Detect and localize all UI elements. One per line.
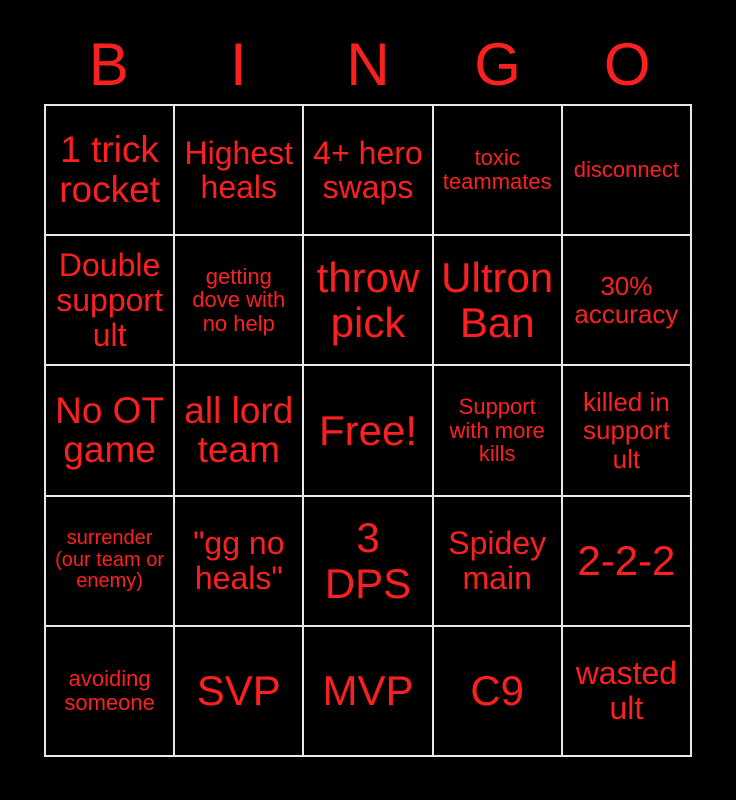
header-letter-o: O [562,28,692,102]
bingo-cell-label: Double support ult [50,248,169,352]
bingo-cell[interactable]: Spidey main [434,497,563,627]
bingo-cell[interactable]: "gg no heals" [175,497,304,627]
bingo-cell-label: MVP [308,668,427,713]
bingo-cell[interactable]: No OT game [46,366,175,496]
bingo-cell-label: Highest heals [179,136,298,205]
bingo-cell[interactable]: 30% accuracy [563,236,692,366]
bingo-cell-label: Free! [308,408,427,453]
bingo-cell[interactable]: 2-2-2 [563,497,692,627]
bingo-cell-label: Support with more kills [438,395,557,466]
bingo-cell[interactable]: disconnect [563,106,692,236]
bingo-cell[interactable]: getting dove with no help [175,236,304,366]
bingo-cell-label: 3 DPS [308,515,427,606]
header-letter-b: B [44,28,174,102]
bingo-cell-label: getting dove with no help [179,265,298,336]
bingo-cell-label: Spidey main [438,526,557,595]
bingo-cell-label: No OT game [50,391,169,471]
bingo-cell-label: 4+ hero swaps [308,136,427,205]
bingo-cell-label: Ultron Ban [438,255,557,346]
bingo-cell-label: 1 trick rocket [50,130,169,210]
bingo-cell[interactable]: MVP [304,627,433,757]
bingo-cell[interactable]: killed in support ult [563,366,692,496]
bingo-cell[interactable]: Double support ult [46,236,175,366]
bingo-cell[interactable]: toxic teammates [434,106,563,236]
bingo-cell[interactable]: C9 [434,627,563,757]
bingo-cell[interactable]: Ultron Ban [434,236,563,366]
header-letter-g: G [433,28,563,102]
bingo-cell-label: disconnect [567,158,686,182]
bingo-cell-label: surrender (our team or enemy) [50,528,169,593]
bingo-cell[interactable]: Highest heals [175,106,304,236]
bingo-cell[interactable]: avoiding someone [46,627,175,757]
bingo-cell-label: killed in support ult [567,388,686,472]
bingo-cell[interactable]: SVP [175,627,304,757]
header-letter-n: N [303,28,433,102]
bingo-card: B I N G O 1 trick rocketHighest heals4+ … [0,0,736,800]
bingo-cell-label: all lord team [179,391,298,471]
bingo-cell-label: throw pick [308,255,427,346]
bingo-cell-label: 30% accuracy [567,272,686,328]
bingo-cell[interactable]: surrender (our team or enemy) [46,497,175,627]
bingo-grid: 1 trick rocketHighest heals4+ hero swaps… [44,104,692,757]
bingo-cell[interactable]: 3 DPS [304,497,433,627]
bingo-cell[interactable]: throw pick [304,236,433,366]
header-letter-i: I [174,28,304,102]
bingo-cell-label: toxic teammates [438,146,557,194]
bingo-cell[interactable]: 4+ hero swaps [304,106,433,236]
bingo-cell-label: "gg no heals" [179,526,298,595]
bingo-cell-label: SVP [179,668,298,713]
bingo-cell[interactable]: 1 trick rocket [46,106,175,236]
bingo-header: B I N G O [44,28,692,102]
bingo-cell-label: C9 [438,668,557,713]
bingo-cell[interactable]: all lord team [175,366,304,496]
bingo-cell[interactable]: Support with more kills [434,366,563,496]
bingo-cell-label: avoiding someone [50,667,169,715]
bingo-cell-free[interactable]: Free! [304,366,433,496]
bingo-cell[interactable]: wasted ult [563,627,692,757]
bingo-cell-label: 2-2-2 [567,538,686,583]
bingo-cell-label: wasted ult [567,656,686,725]
